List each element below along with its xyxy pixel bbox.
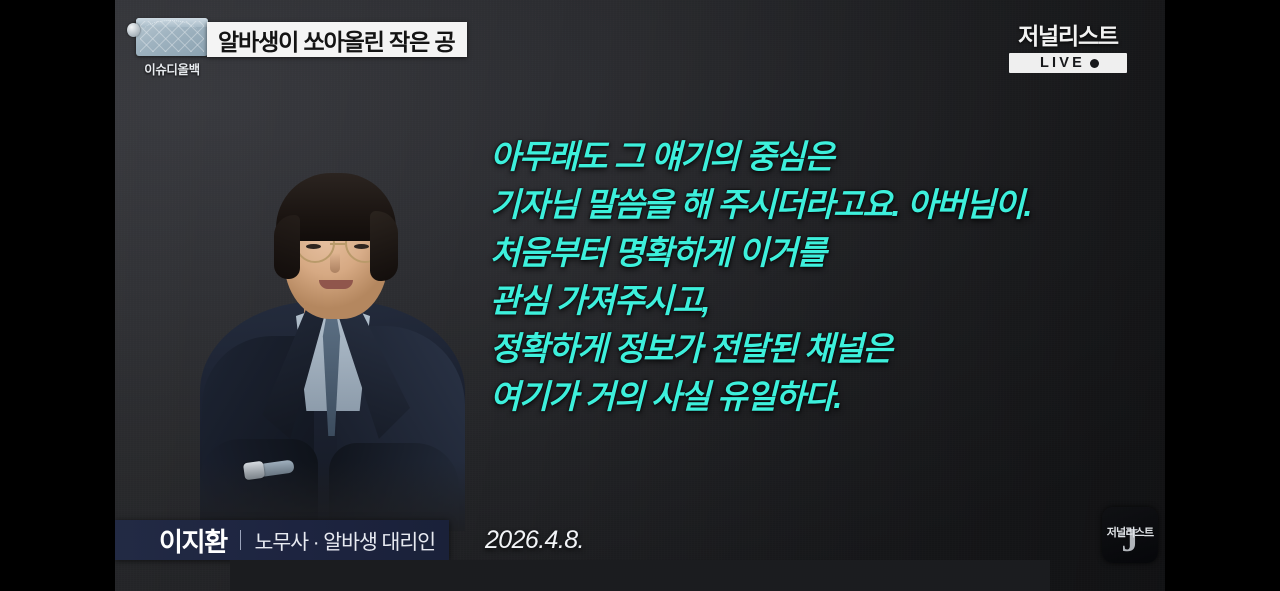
live-label: LIVE — [1037, 56, 1085, 71]
broadcast-screen: 이슈디올백 알바생이 쏘아올린 작은 공 저널리스트 LIVE 아무래도 그 얘… — [0, 0, 1280, 591]
subtitle-line: 여기가 거의 사실 유일하다. — [490, 373, 1150, 421]
broadcast-date: 2026.4.8. — [485, 520, 584, 560]
video-frame: 이슈디올백 알바생이 쏘아올린 작은 공 저널리스트 LIVE 아무래도 그 얘… — [115, 0, 1165, 591]
headline-text: 알바생이 쏘아올린 작은 공 — [218, 23, 455, 57]
live-indicator-dot — [1090, 59, 1099, 68]
headline-banner: 알바생이 쏘아올린 작은 공 — [207, 22, 467, 57]
lower-third-bar: 이지환 노무사 · 알바생 대리인 — [115, 520, 449, 560]
watermark-name: 저널리스트 — [1102, 524, 1158, 540]
live-badge: LIVE — [1009, 53, 1127, 73]
channel-name: 저널리스트 — [1009, 25, 1127, 48]
channel-logo: 저널리스트 LIVE — [1009, 25, 1127, 73]
guest-name: 이지환 — [159, 522, 227, 559]
guest-photo — [200, 131, 465, 531]
left-pillarbox — [0, 0, 115, 591]
guest-role: 노무사 · 알바생 대리인 — [254, 525, 435, 555]
topic-logo-caption: 이슈디올백 — [128, 59, 216, 78]
subtitle-line: 처음부터 명확하게 이거를 — [490, 229, 1150, 277]
subtitle-block: 아무래도 그 얘기의 중심은 기자님 말씀을 해 주시더라고요. 아버님이. 처… — [490, 133, 1150, 421]
topic-logo: 이슈디올백 — [128, 18, 216, 78]
subtitle-line: 아무래도 그 얘기의 중심은 — [490, 133, 1150, 181]
bottom-letterbox-strip — [230, 560, 1050, 591]
subtitle-line: 정확하게 정보가 전달된 채널은 — [490, 325, 1150, 373]
right-pillarbox — [1165, 0, 1280, 591]
subtitle-line: 관심 가져주시고, — [490, 277, 1150, 325]
handbag-icon — [136, 18, 208, 56]
name-role-divider — [240, 530, 242, 550]
subtitle-line: 기자님 말씀을 해 주시더라고요. 아버님이. — [490, 181, 1150, 229]
channel-watermark: J 저널리스트 — [1102, 507, 1158, 563]
